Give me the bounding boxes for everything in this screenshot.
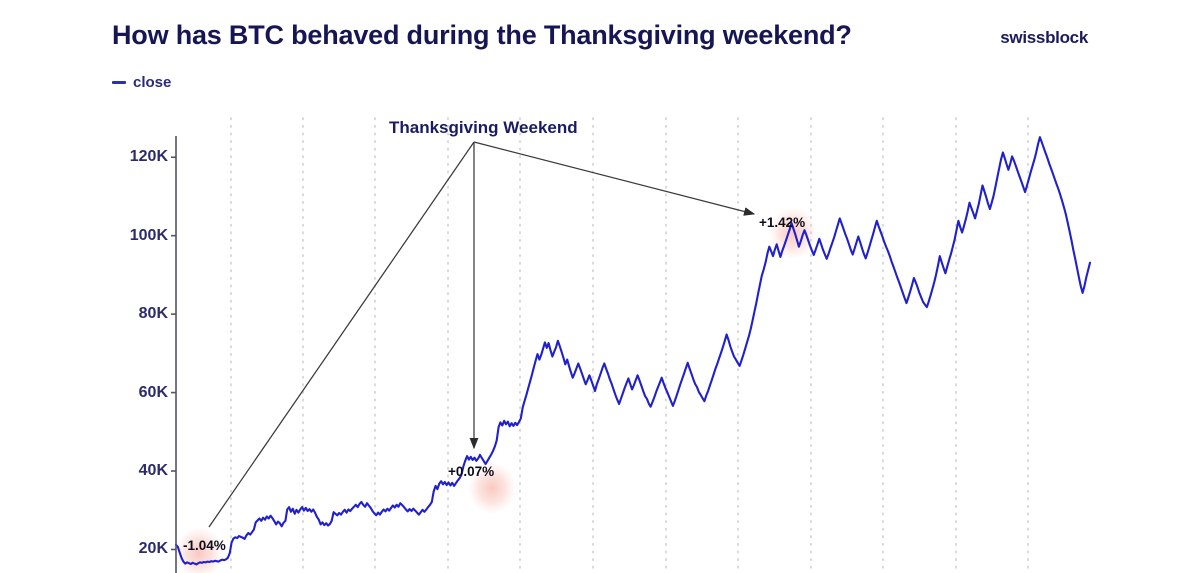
chart-series-close <box>176 137 1090 564</box>
y-axis-tick-label: 20K <box>110 540 168 558</box>
annotation-pct-label: +0.07% <box>448 464 494 479</box>
y-axis-tick-label: 60K <box>110 384 168 402</box>
chart-y-axis <box>171 136 176 573</box>
annotation-pct-label: -1.04% <box>183 538 226 553</box>
y-axis-tick-label: 40K <box>110 462 168 480</box>
y-axis-tick-label: 120K <box>110 148 168 166</box>
thanksgiving-weekend-callout: Thanksgiving Weekend <box>389 118 578 138</box>
chart-plot-area <box>0 0 1200 573</box>
y-axis-tick-label: 100K <box>110 227 168 245</box>
y-axis-tick-label: 80K <box>110 305 168 323</box>
annotation-pct-label: +1.42% <box>759 215 805 230</box>
chart-gridlines <box>231 118 1028 573</box>
chart-page: How has BTC behaved during the Thanksgiv… <box>0 0 1200 573</box>
